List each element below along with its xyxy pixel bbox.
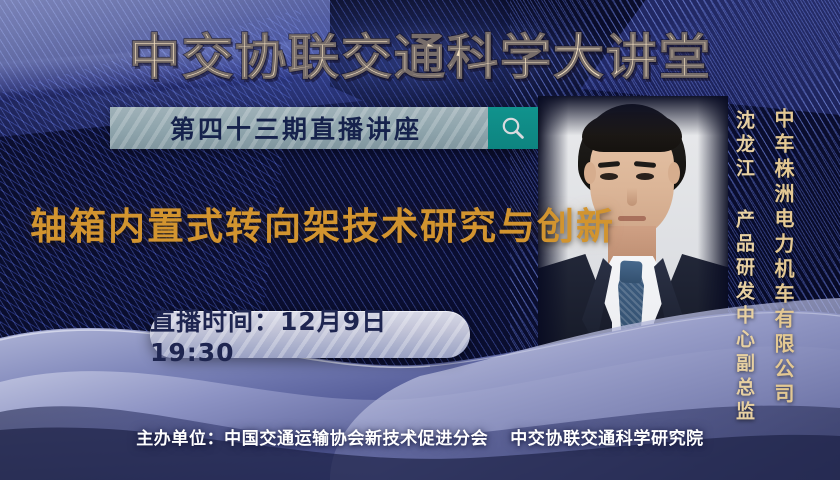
search-icon [500, 115, 526, 141]
speaker-company: 中车株洲电力机车有限公司 [769, 108, 798, 408]
page-title: 中交协联交通科学大讲堂 [0, 18, 840, 89]
live-time-text: 直播时间：12月9日19:30 [150, 302, 470, 367]
footer-organizers: 主办单位：中国交通运输协会新技术促进分会中交协联交通科学研究院 [0, 424, 840, 449]
speaker-name-role: 沈龙江 产品研发中心副总监 [731, 110, 758, 425]
search-button[interactable] [488, 107, 538, 149]
live-time-badge: 直播时间：12月9日19:30 [150, 311, 470, 358]
poster-banner: 中交协联交通科学大讲堂 第四十三期直播讲座 轴箱内置式转向架技术研究与创新 直播… [0, 0, 840, 480]
footer-organizer: 主办单位：中国交通运输协会新技术促进分会 [136, 429, 488, 449]
episode-label: 第四十三期直播讲座 [110, 107, 488, 149]
lecture-title: 轴箱内置式转向架技术研究与创新 [30, 196, 615, 250]
footer-institute: 中交协联交通科学研究院 [510, 429, 704, 449]
episode-banner[interactable]: 第四十三期直播讲座 [110, 107, 538, 149]
